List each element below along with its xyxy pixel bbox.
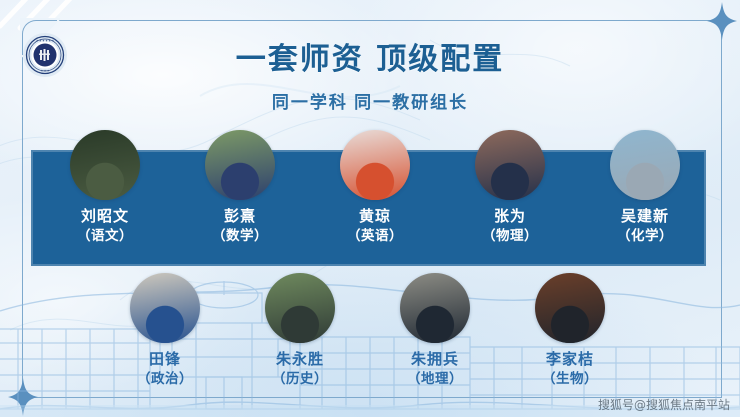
teacher-avatar [340, 130, 410, 200]
teacher-card: 朱永胜（历史） [235, 273, 365, 387]
teacher-name: 朱拥兵 [370, 352, 500, 369]
teacher-card: 朱拥兵（地理） [370, 273, 500, 387]
teacher-card: 张为（物理） [445, 130, 575, 244]
teacher-name: 刘昭文 [40, 209, 170, 226]
teacher-card: 彭熹（数学） [175, 130, 305, 244]
teacher-avatar [610, 130, 680, 200]
teacher-subject: （地理） [370, 371, 500, 387]
teacher-avatar [205, 130, 275, 200]
teacher-card: 田锋（政治） [100, 273, 230, 387]
page-title: 一套师资 顶级配置 [0, 34, 740, 78]
teacher-avatar [535, 273, 605, 343]
avatar-photo [610, 130, 680, 200]
avatar-photo [70, 130, 140, 200]
teacher-name: 田锋 [100, 352, 230, 369]
teacher-avatar [130, 273, 200, 343]
teacher-avatar [70, 130, 140, 200]
page-subtitle: 同一学科 同一教研组长 [0, 88, 740, 113]
avatar-photo [340, 130, 410, 200]
teacher-name: 吴建新 [580, 209, 710, 226]
avatar-photo [130, 273, 200, 343]
avatar-photo [475, 130, 545, 200]
teacher-name: 张为 [445, 209, 575, 226]
teacher-name: 朱永胜 [235, 352, 365, 369]
teacher-avatar [400, 273, 470, 343]
frame-line-top [22, 20, 722, 21]
avatar-photo [205, 130, 275, 200]
four-point-star-icon-bottom-left [8, 378, 38, 416]
teacher-card: 吴建新（化学） [580, 130, 710, 244]
teacher-subject: （英语） [310, 228, 440, 244]
teacher-subject: （生物） [505, 371, 635, 387]
teacher-name: 李家桔 [505, 352, 635, 369]
teacher-name: 彭熹 [175, 209, 305, 226]
teacher-card: 刘昭文（语文） [40, 130, 170, 244]
teacher-subject: （语文） [40, 228, 170, 244]
teacher-subject: （化学） [580, 228, 710, 244]
teacher-subject: （物理） [445, 228, 575, 244]
avatar-photo [400, 273, 470, 343]
avatar-photo [535, 273, 605, 343]
teacher-subject: （数学） [175, 228, 305, 244]
watermark-label: 搜狐号@搜狐焦点南平站 [598, 396, 730, 413]
teacher-avatar [265, 273, 335, 343]
teacher-subject: （历史） [235, 371, 365, 387]
teacher-card: 李家桔（生物） [505, 273, 635, 387]
teacher-name: 黄琼 [310, 209, 440, 226]
teacher-avatar [475, 130, 545, 200]
teacher-subject: （政治） [100, 371, 230, 387]
teacher-card: 黄琼（英语） [310, 130, 440, 244]
avatar-photo [265, 273, 335, 343]
poster-root: ★ ★ ★ ★ ★ ★ ★ ★ ★ 一套师资 顶级配置 同一学科 同一教研组长 [0, 0, 740, 417]
